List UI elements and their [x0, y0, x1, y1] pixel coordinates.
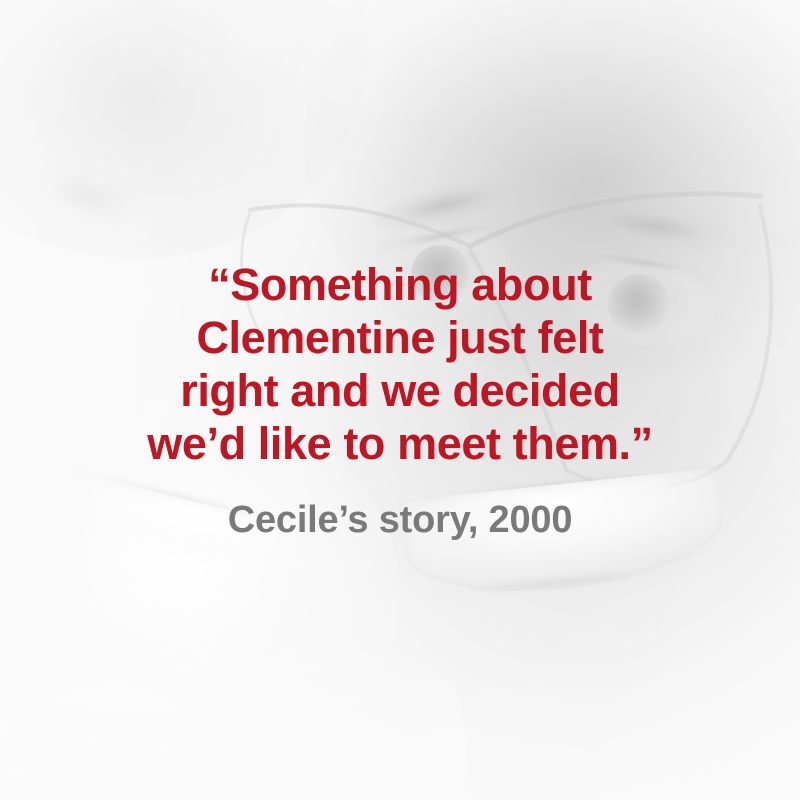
text-overlay: “Something about Clementine just felt ri…: [0, 0, 800, 800]
quote-text: “Something about Clementine just felt ri…: [107, 258, 693, 470]
quote-card: “Something about Clementine just felt ri…: [0, 0, 800, 800]
attribution-text: Cecile’s story, 2000: [228, 500, 573, 542]
